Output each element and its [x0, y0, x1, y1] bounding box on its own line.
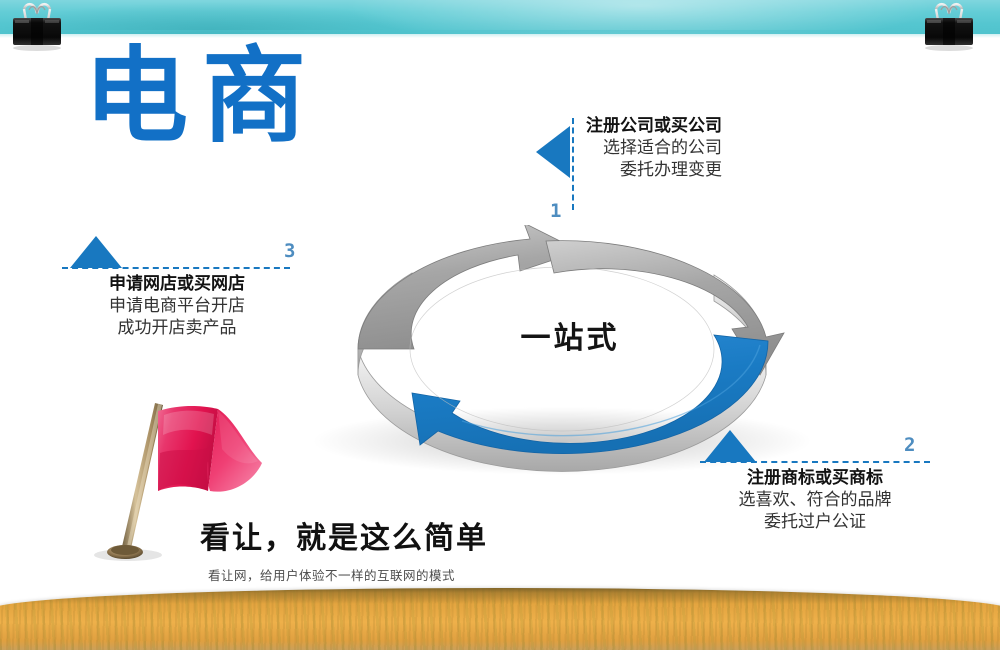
step-3-line-2: 成功开店卖产品 [58, 317, 296, 339]
step-1-dashed-line [572, 118, 574, 210]
step-2-title: 注册商标或买商标 [700, 468, 930, 489]
step-1-number: 1 [550, 200, 561, 222]
step-3-text: 申请网店或买网店 申请电商平台开店 成功开店卖产品 [58, 274, 296, 339]
tagline-block: 看让，就是这么简单 看让网，给用户体验不一样的互联网的模式 [200, 513, 488, 584]
wheat-field-footer-band [0, 588, 1000, 650]
triangle-up-icon [704, 430, 756, 462]
step-2-text: 注册商标或买商标 选喜欢、符合的品牌 委托过户公证 [700, 468, 930, 533]
step-2-number: 2 [904, 434, 915, 456]
step-3-title: 申请网店或买网店 [58, 274, 296, 295]
step-1-line-1: 选择适合的公司 [586, 137, 722, 159]
step-1-line-2: 委托办理变更 [586, 159, 722, 181]
cycle-diagram [262, 225, 862, 485]
slide-canvas: 电商 [0, 0, 1000, 650]
tagline-subline: 看让网，给用户体验不一样的互联网的模式 [208, 565, 488, 584]
step-2-dashed-line [700, 461, 930, 463]
step-2-line-1: 选喜欢、符合的品牌 [700, 489, 930, 511]
page-title: 电商 [84, 44, 320, 148]
binder-clip-left-icon [10, 0, 64, 52]
tagline-headline: 看让，就是这么简单 [200, 513, 488, 557]
step-1-title: 注册公司或买公司 [586, 116, 722, 137]
step-3-line-1: 申请电商平台开店 [58, 295, 296, 317]
step-1-text: 注册公司或买公司 选择适合的公司 委托办理变更 [586, 116, 722, 181]
binder-clip-right-icon [922, 0, 976, 52]
triangle-up-icon [70, 236, 122, 268]
step-3-number: 3 [284, 240, 295, 262]
step-3-dashed-line [62, 267, 290, 269]
triangle-left-icon [536, 126, 570, 178]
step-2-line-2: 委托过户公证 [700, 511, 930, 533]
teal-header-band [0, 0, 1000, 34]
